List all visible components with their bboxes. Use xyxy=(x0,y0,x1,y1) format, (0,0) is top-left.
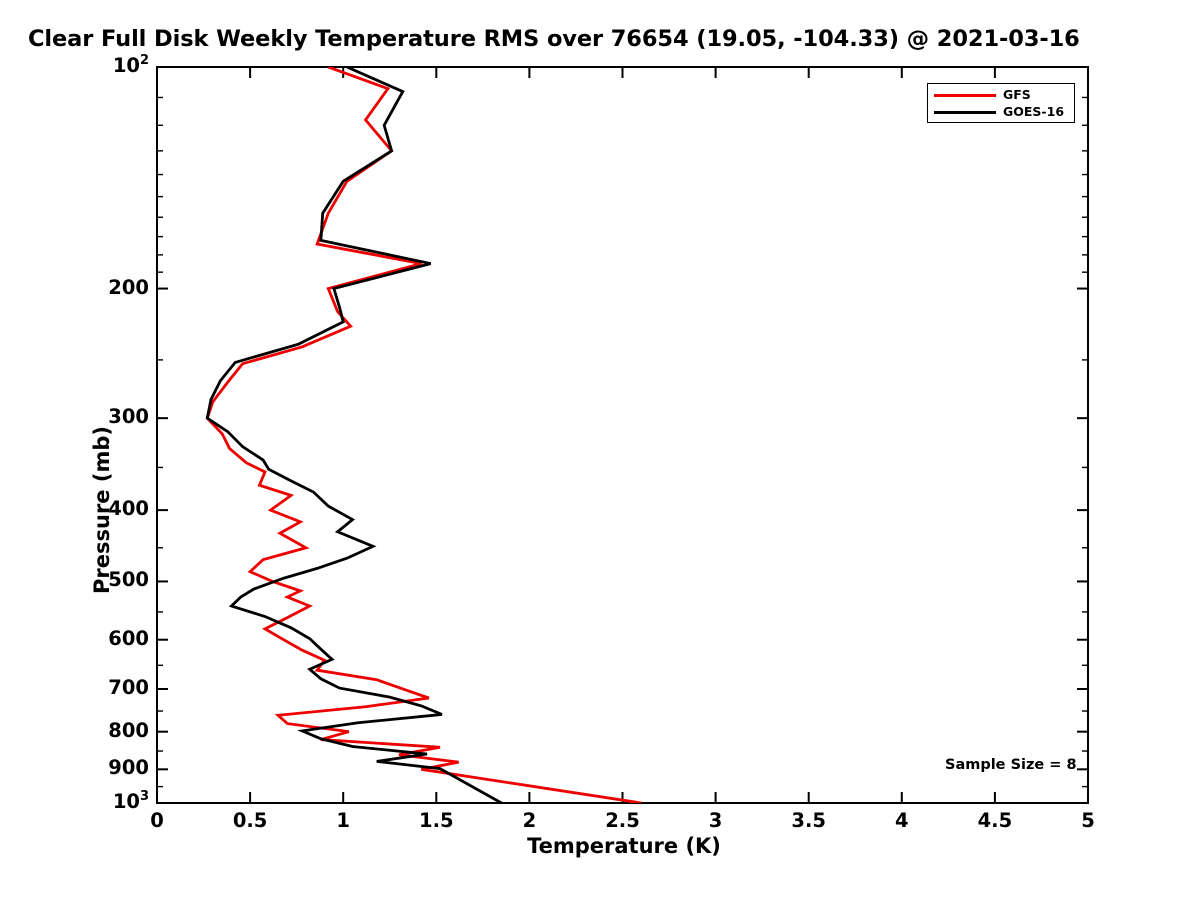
y-tick-label: 600 xyxy=(65,627,149,650)
x-tick-label: 4 xyxy=(867,809,937,832)
x-tick-label: 4.5 xyxy=(960,809,1030,832)
y-tick-label: 102 xyxy=(65,54,149,77)
axes-frame xyxy=(157,67,1088,803)
y-tick-label: 700 xyxy=(65,676,149,699)
y-tick-label: 300 xyxy=(65,405,149,428)
y-tick-label: 103 xyxy=(65,790,149,813)
x-tick-label: 0.5 xyxy=(215,809,285,832)
y-tick-label: 900 xyxy=(65,756,149,779)
y-tick-label: 400 xyxy=(65,497,149,520)
data-series-group xyxy=(207,67,641,803)
legend-item-gfs: GFS xyxy=(934,87,1031,104)
legend-label-goes16: GOES-16 xyxy=(1003,106,1064,119)
x-tick-label: 2 xyxy=(494,809,564,832)
legend-label-gfs: GFS xyxy=(1003,89,1031,102)
plot-frame xyxy=(157,67,1088,803)
y-tick-label: 800 xyxy=(65,719,149,742)
chart-figure: Clear Full Disk Weekly Temperature RMS o… xyxy=(0,0,1200,900)
x-tick-label: 2.5 xyxy=(588,809,658,832)
legend-item-goes16: GOES-16 xyxy=(934,104,1064,121)
series-line-gfs xyxy=(207,67,641,803)
y-tick-label: 500 xyxy=(65,568,149,591)
y-tick-label: 200 xyxy=(65,276,149,299)
x-tick-label: 1.5 xyxy=(401,809,471,832)
x-axis-title: Temperature (K) xyxy=(0,834,1200,858)
x-tick-label: 3.5 xyxy=(774,809,844,832)
legend: GFS GOES-16 xyxy=(927,83,1075,123)
x-tick-label: 5 xyxy=(1053,809,1123,832)
x-tick-label: 3 xyxy=(681,809,751,832)
axis-ticks xyxy=(157,67,1088,803)
x-tick-label: 1 xyxy=(308,809,378,832)
sample-size-annotation: Sample Size = 8 xyxy=(945,757,1077,773)
legend-swatch-gfs xyxy=(934,94,996,97)
legend-swatch-goes16 xyxy=(934,111,996,114)
